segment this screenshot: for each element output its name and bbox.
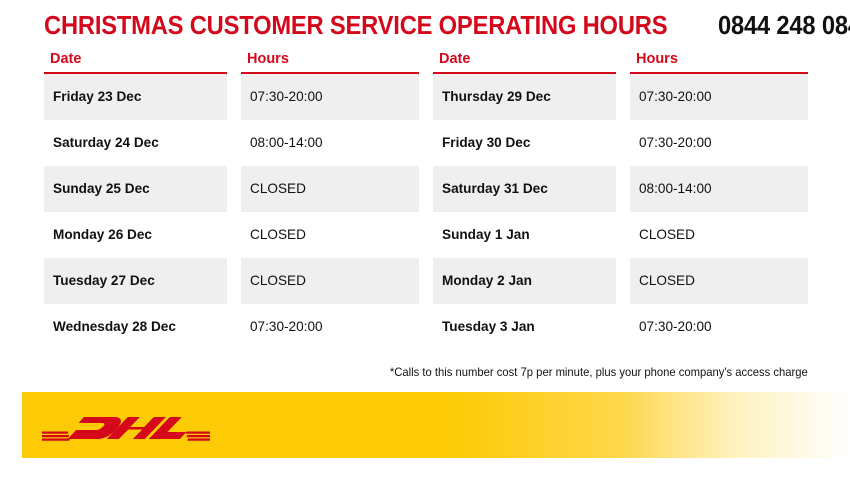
table-row: Sunday 25 Dec CLOSED [44, 166, 419, 212]
cell-hours: 07:30-20:00 [630, 304, 808, 350]
document-page: CHRISTMAS CUSTOMER SERVICE OPERATING HOU… [0, 0, 850, 478]
cell-hours: CLOSED [241, 258, 419, 304]
cell-hours: CLOSED [241, 166, 419, 212]
cell-hours: 07:30-20:00 [241, 74, 419, 120]
cell-hours: 07:30-20:00 [630, 120, 808, 166]
page-header: CHRISTMAS CUSTOMER SERVICE OPERATING HOU… [44, 14, 850, 40]
cell-date: Sunday 25 Dec [44, 166, 227, 212]
cell-hours: 08:00-14:00 [630, 166, 808, 212]
table-row: Tuesday 27 Dec CLOSED [44, 258, 419, 304]
table-row: Saturday 31 Dec 08:00-14:00 [433, 166, 808, 212]
table-row: Saturday 24 Dec 08:00-14:00 [44, 120, 419, 166]
cell-date: Monday 26 Dec [44, 212, 227, 258]
table-header-row: Date Hours [44, 50, 419, 74]
cell-hours: CLOSED [630, 212, 808, 258]
cell-hours: CLOSED [241, 212, 419, 258]
contact-phone-number: 0844 248 0844* [718, 14, 850, 40]
table-row: Friday 30 Dec 07:30-20:00 [433, 120, 808, 166]
hours-table-first-half: Date Hours Friday 23 Dec 07:30-20:00 Sat… [44, 50, 419, 350]
cell-date: Saturday 31 Dec [433, 166, 616, 212]
cell-hours: 08:00-14:00 [241, 120, 419, 166]
cell-hours: 07:30-20:00 [241, 304, 419, 350]
cell-date: Wednesday 28 Dec [44, 304, 227, 350]
cell-date: Sunday 1 Jan [433, 212, 616, 258]
column-header-date: Date [44, 50, 227, 74]
column-header-date: Date [433, 50, 616, 74]
cell-hours: 07:30-20:00 [630, 74, 808, 120]
cell-date: Saturday 24 Dec [44, 120, 227, 166]
cell-date: Friday 30 Dec [433, 120, 616, 166]
table-row: Tuesday 3 Jan 07:30-20:00 [433, 304, 808, 350]
dhl-logo [42, 411, 210, 445]
table-row: Sunday 1 Jan CLOSED [433, 212, 808, 258]
cell-date: Friday 23 Dec [44, 74, 227, 120]
table-header-row: Date Hours [433, 50, 808, 74]
table-row: Thursday 29 Dec 07:30-20:00 [433, 74, 808, 120]
table-row: Wednesday 28 Dec 07:30-20:00 [44, 304, 419, 350]
opening-hours-tables: Date Hours Friday 23 Dec 07:30-20:00 Sat… [44, 50, 808, 350]
cell-date: Thursday 29 Dec [433, 74, 616, 120]
cell-date: Tuesday 27 Dec [44, 258, 227, 304]
cell-date: Tuesday 3 Jan [433, 304, 616, 350]
table-row: Friday 23 Dec 07:30-20:00 [44, 74, 419, 120]
column-header-hours: Hours [241, 50, 419, 74]
table-row: Monday 2 Jan CLOSED [433, 258, 808, 304]
call-charges-footnote: *Calls to this number cost 7p per minute… [390, 366, 808, 379]
table-row: Monday 26 Dec CLOSED [44, 212, 419, 258]
hours-table-second-half: Date Hours Thursday 29 Dec 07:30-20:00 F… [433, 50, 808, 350]
column-header-hours: Hours [630, 50, 808, 74]
cell-hours: CLOSED [630, 258, 808, 304]
page-title: CHRISTMAS CUSTOMER SERVICE OPERATING HOU… [44, 14, 667, 40]
cell-date: Monday 2 Jan [433, 258, 616, 304]
